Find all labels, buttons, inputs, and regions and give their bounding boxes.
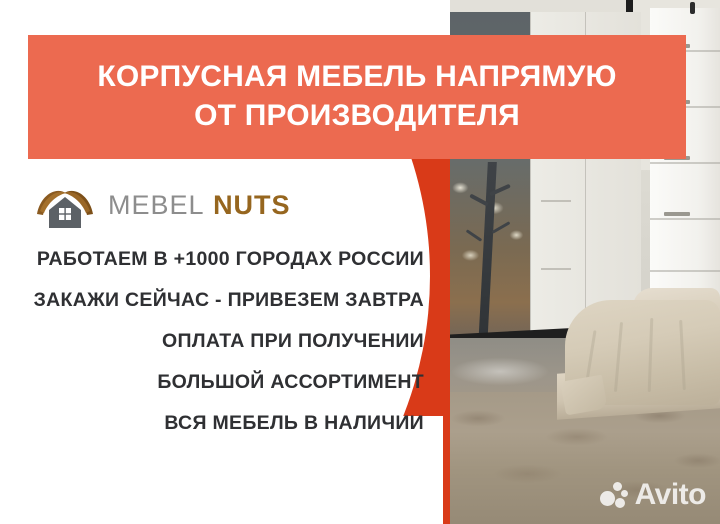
- benefits-list: РАБОТАЕМ В +1000 ГОРОДАХ РОССИИ ЗАКАЖИ С…: [0, 248, 424, 435]
- benefit-item: ОПЛАТА ПРИ ПОЛУЧЕНИИ: [162, 330, 424, 353]
- headline-line-1: КОРПУСНАЯ МЕБЕЛЬ НАПРЯМУЮ: [97, 59, 616, 96]
- avito-brand-text: Avito: [635, 480, 706, 510]
- avito-dots-icon: [600, 482, 628, 508]
- benefit-item: БОЛЬШОЙ АССОРТИМЕНТ: [157, 371, 424, 394]
- brand-logo: MEBEL NUTS: [34, 180, 291, 230]
- logo-wordmark: MEBEL NUTS: [108, 190, 291, 221]
- benefit-item: ЗАКАЖИ СЕЙЧАС - ПРИВЕЗЕМ ЗАВТРА: [34, 289, 424, 312]
- benefit-item: РАБОТАЕМ В +1000 ГОРОДАХ РОССИИ: [37, 248, 424, 271]
- benefit-item: ВСЯ МЕБЕЛЬ В НАЛИЧИИ: [164, 412, 424, 435]
- logo-name-secondary: NUTS: [213, 190, 291, 220]
- chest-knob: [690, 2, 695, 14]
- advertisement-banner: КОРПУСНАЯ МЕБЕЛЬ НАПРЯМУЮ ОТ ПРОИЗВОДИТЕ…: [0, 0, 720, 524]
- logo-name-primary: MEBEL: [108, 190, 205, 220]
- headline-banner: КОРПУСНАЯ МЕБЕЛЬ НАПРЯМУЮ ОТ ПРОИЗВОДИТЕ…: [28, 35, 686, 159]
- headline-line-2: ОТ ПРОИЗВОДИТЕЛЯ: [194, 98, 520, 135]
- house-with-roof-swoosh-icon: [34, 180, 96, 230]
- avito-watermark: Avito: [600, 480, 706, 510]
